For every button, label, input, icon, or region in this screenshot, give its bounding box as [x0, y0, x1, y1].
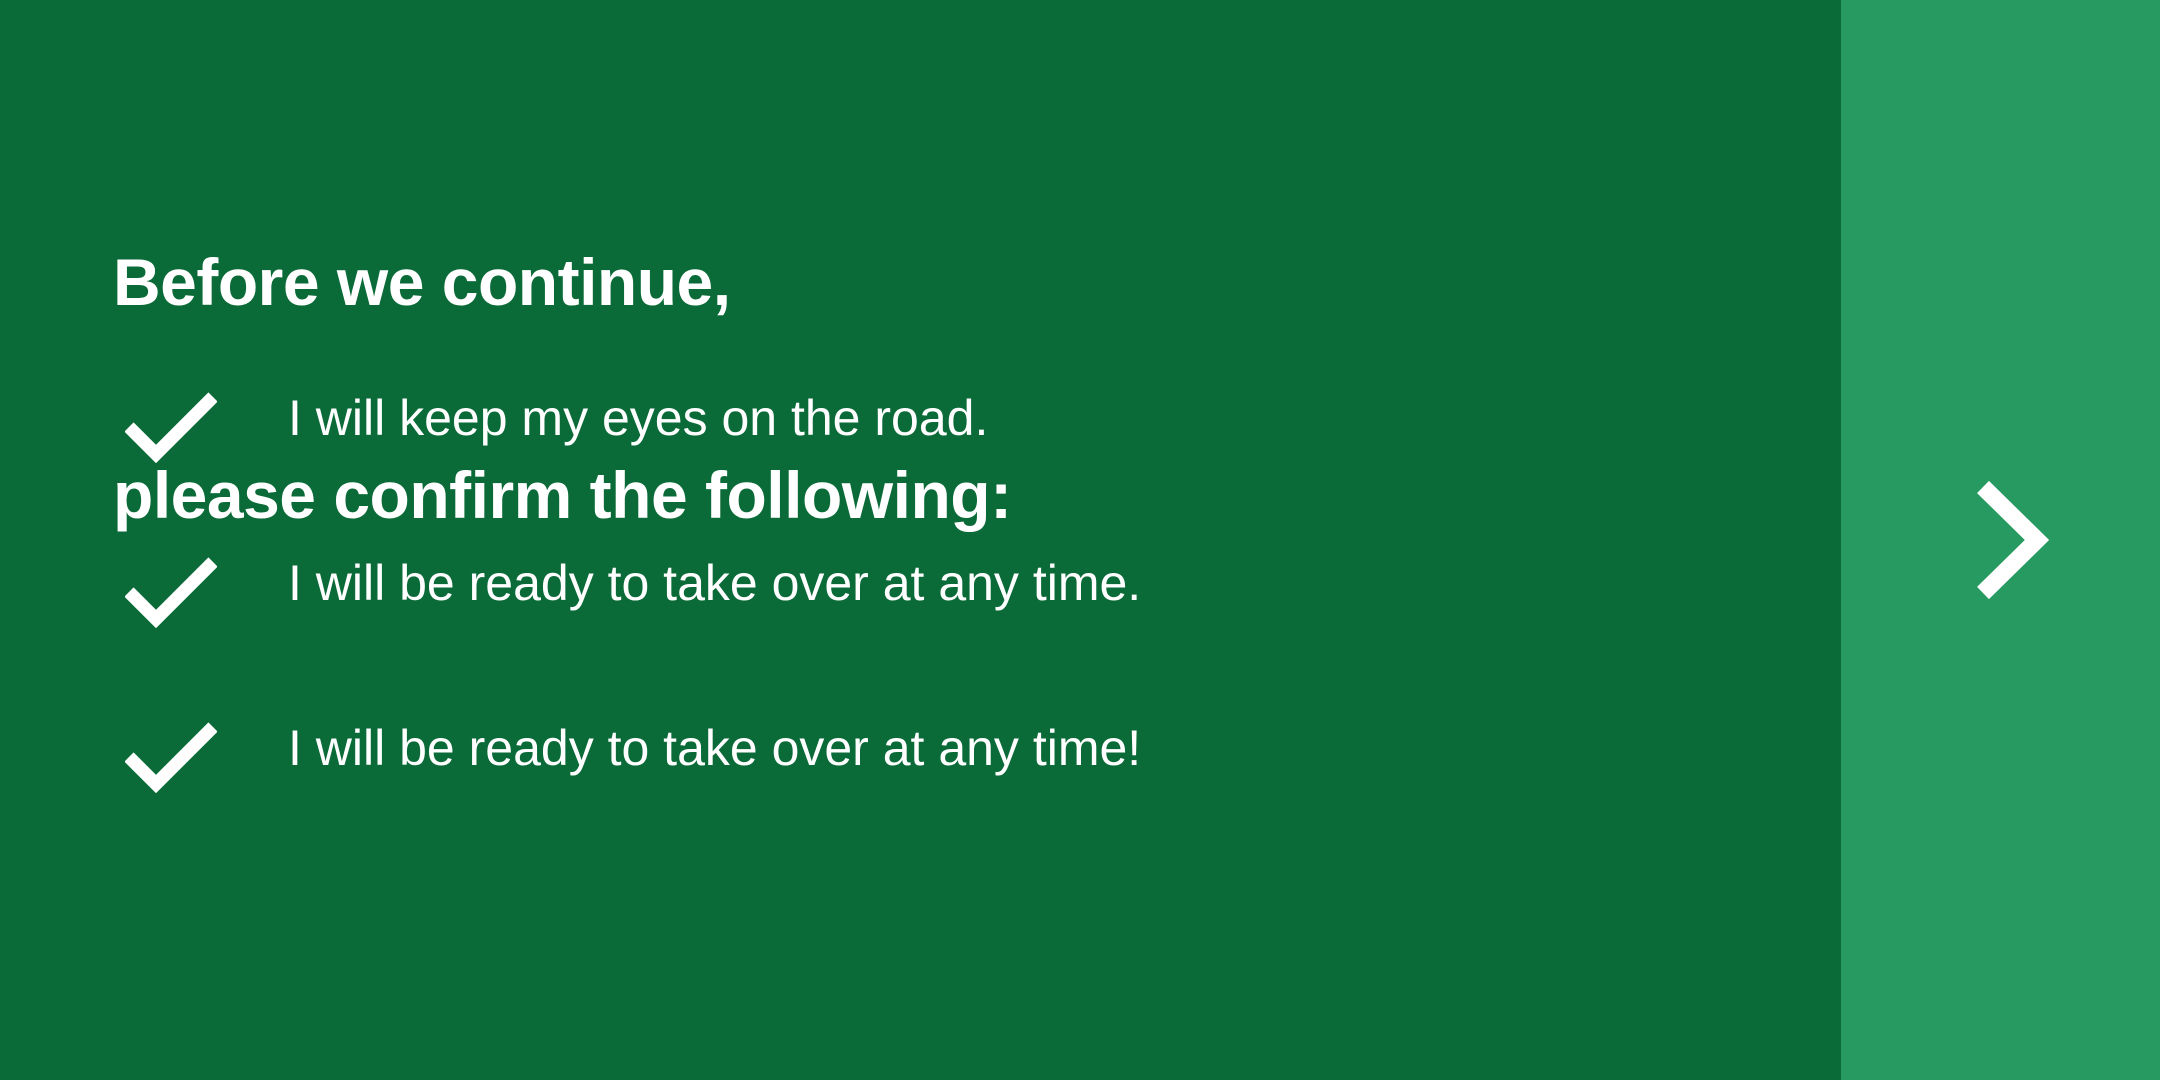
checkmark-icon — [113, 719, 288, 799]
next-panel — [1841, 0, 2160, 1080]
checklist-item-label: I will be ready to take over at any time… — [288, 550, 1713, 611]
page-title-line-1: Before we continue, — [113, 247, 1012, 318]
checkmark-icon — [113, 554, 288, 634]
chevron-right-icon — [1971, 479, 2049, 601]
confirmation-checklist: I will keep my eyes on the road. I will … — [113, 385, 1713, 880]
main-content-panel: Before we continue, please confirm the f… — [0, 0, 1841, 1080]
confirmation-screen: Before we continue, please confirm the f… — [0, 0, 2160, 1080]
checklist-item[interactable]: I will be ready to take over at any time… — [113, 550, 1713, 715]
checkmark-icon — [113, 389, 288, 469]
checklist-item-label: I will keep my eyes on the road. — [288, 385, 1713, 446]
checklist-item-label: I will be ready to take over at any time… — [288, 715, 1713, 776]
checklist-item[interactable]: I will be ready to take over at any time… — [113, 715, 1713, 880]
checklist-item[interactable]: I will keep my eyes on the road. — [113, 385, 1713, 550]
next-button[interactable] — [1926, 465, 2076, 615]
